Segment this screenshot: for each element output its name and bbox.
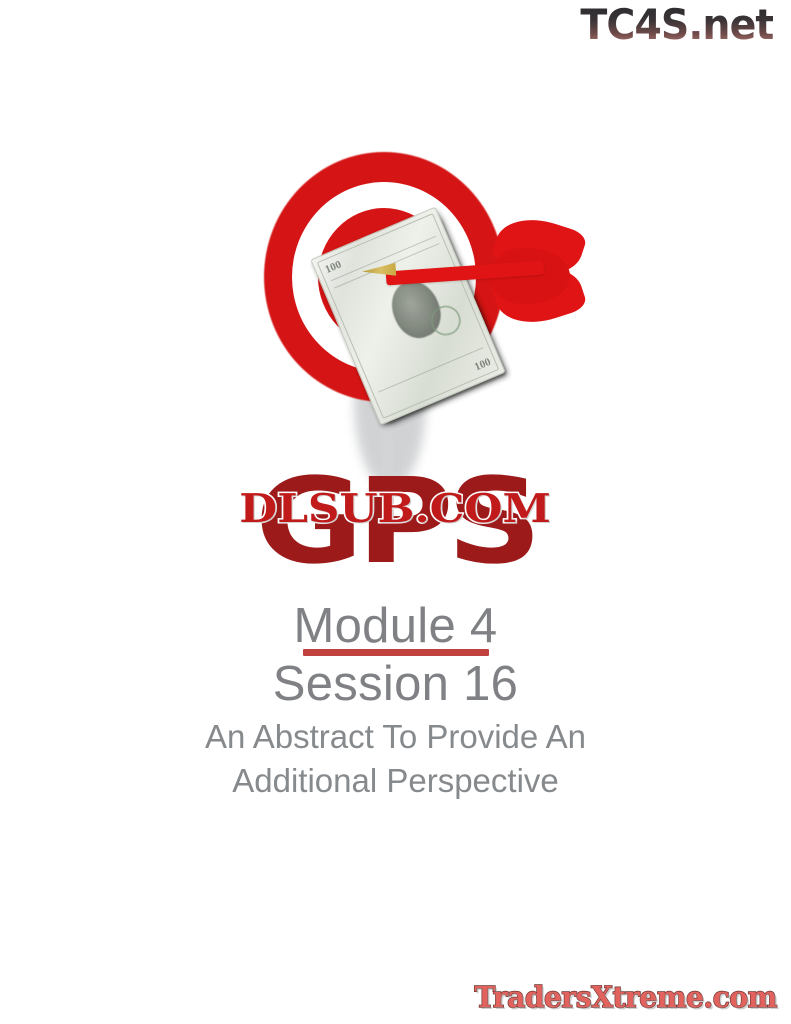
module-title: Module 4	[0, 598, 791, 654]
cover-page: TC4S.net 100 100	[0, 0, 791, 1024]
target-dart-money-graphic: 100 100	[258, 130, 658, 490]
session-title: Session 16	[0, 656, 791, 712]
hero-graphic: 100 100	[0, 130, 791, 490]
subtitle-line-2: Additional Perspective	[0, 762, 791, 800]
tradersxtreme-logo: TradersXtreme.com	[474, 983, 777, 1012]
gps-wordmark: GPS	[255, 462, 535, 580]
title-block: Module 4 Session 16 An Abstract To Provi…	[0, 598, 791, 800]
subtitle-line-1: An Abstract To Provide An	[0, 718, 791, 756]
gps-wordmark-block: GPS DLSUB.COM	[0, 462, 791, 592]
tc4s-logo: TC4S.net	[580, 4, 773, 46]
